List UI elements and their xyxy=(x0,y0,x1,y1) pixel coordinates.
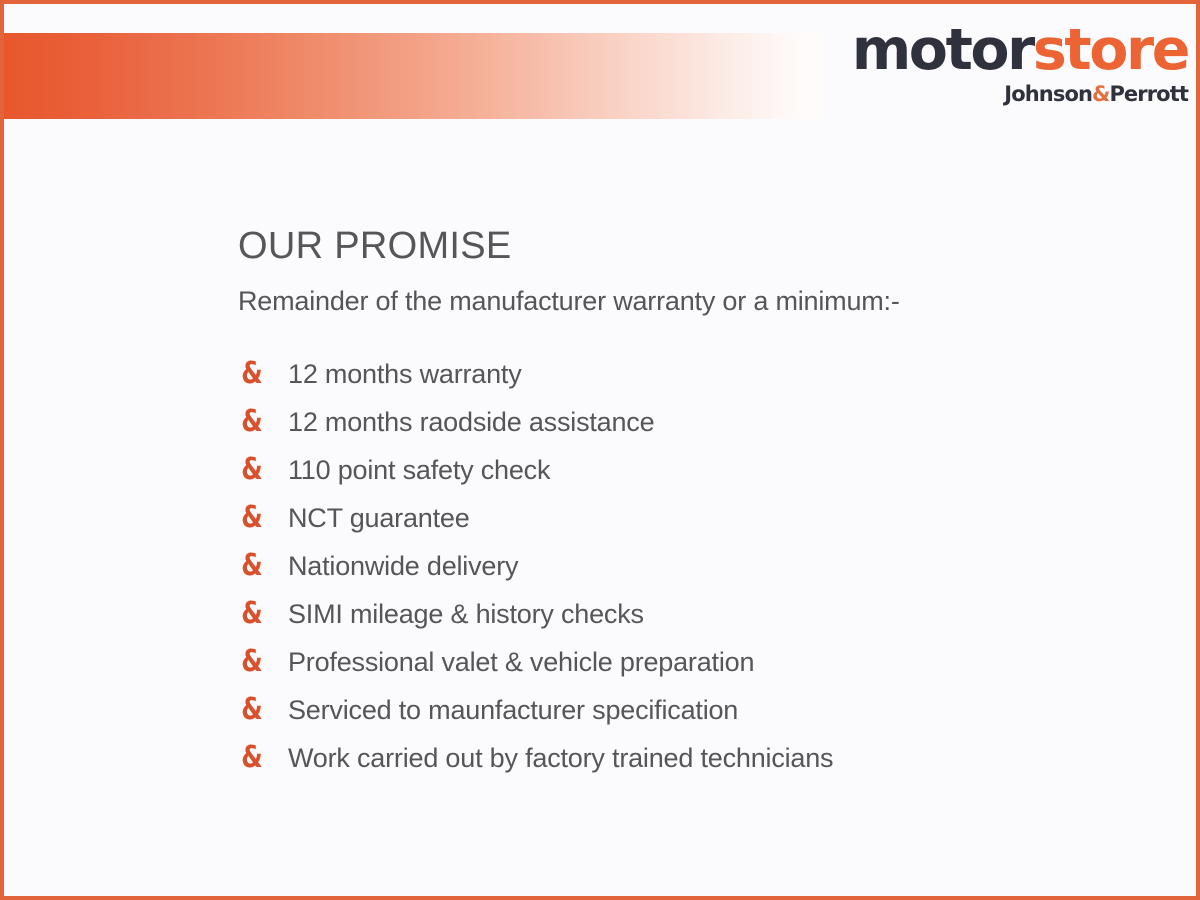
promise-list: & 12 months warranty & 12 months raodsid… xyxy=(238,350,1158,782)
ampersand-bullet-icon: & xyxy=(238,551,279,581)
logo-word-motor: motor xyxy=(852,17,1033,83)
header-band: motorstore Johnson&Perrott xyxy=(4,4,1196,126)
list-item: & 12 months raodside assistance xyxy=(238,398,1158,446)
list-item-label: Nationwide delivery xyxy=(288,550,518,582)
ampersand-bullet-icon: & xyxy=(238,695,279,725)
list-item-label: 110 point safety check xyxy=(288,454,550,486)
page-title: OUR PROMISE xyxy=(238,226,1158,268)
list-item: & Work carried out by factory trained te… xyxy=(238,734,1158,782)
list-item-label: NCT guarantee xyxy=(288,502,470,534)
list-item-label: Work carried out by factory trained tech… xyxy=(288,742,833,774)
ampersand-bullet-icon: & xyxy=(238,407,279,437)
list-item-label: Serviced to maunfacturer specification xyxy=(288,694,738,726)
brand-logo: motorstore Johnson&Perrott xyxy=(852,22,1188,105)
logo-tagline-johnson: Johnson xyxy=(1004,82,1092,106)
ampersand-bullet-icon: & xyxy=(238,503,279,533)
page-subtitle: Remainder of the manufacturer warranty o… xyxy=(238,285,1158,317)
ampersand-bullet-icon: & xyxy=(238,359,279,389)
list-item: & Nationwide delivery xyxy=(238,542,1158,590)
list-item: & NCT guarantee xyxy=(238,494,1158,542)
list-item-label: 12 months raodside assistance xyxy=(288,406,654,438)
logo-wordmark: motorstore xyxy=(852,22,1188,79)
promise-content: OUR PROMISE Remainder of the manufacture… xyxy=(238,226,1158,782)
orange-gradient-bar xyxy=(4,33,826,119)
logo-tagline: Johnson&Perrott xyxy=(852,84,1188,105)
list-item: & Serviced to maunfacturer specification xyxy=(238,686,1158,734)
ampersand-icon: & xyxy=(1092,82,1109,106)
list-item: & Professional valet & vehicle preparati… xyxy=(238,638,1158,686)
list-item-label: SIMI mileage & history checks xyxy=(288,598,644,630)
logo-word-store: store xyxy=(1033,17,1188,83)
promise-slide: motorstore Johnson&Perrott OUR PROMISE R… xyxy=(0,0,1200,900)
list-item-label: 12 months warranty xyxy=(288,358,522,390)
ampersand-bullet-icon: & xyxy=(238,743,279,773)
list-item: & 110 point safety check xyxy=(238,446,1158,494)
list-item-label: Professional valet & vehicle preparation xyxy=(288,646,754,678)
list-item: & 12 months warranty xyxy=(238,350,1158,398)
logo-tagline-perrott: Perrott xyxy=(1109,82,1188,106)
ampersand-bullet-icon: & xyxy=(238,455,279,485)
ampersand-bullet-icon: & xyxy=(238,599,279,629)
list-item: & SIMI mileage & history checks xyxy=(238,590,1158,638)
ampersand-bullet-icon: & xyxy=(238,647,279,677)
